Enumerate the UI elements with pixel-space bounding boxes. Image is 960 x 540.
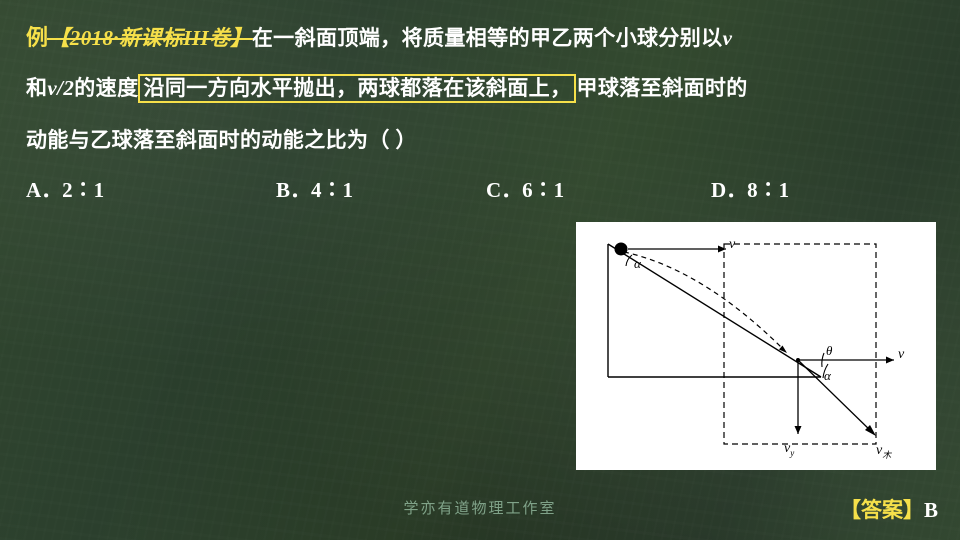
ball-marker	[615, 243, 628, 256]
answer-block: 【答案】B	[840, 494, 938, 524]
option-b[interactable]: B．4∶1	[276, 174, 486, 204]
answer-value: B	[924, 498, 938, 522]
question-line-2-suffix: 甲球落至斜面时的	[576, 76, 747, 100]
physics-diagram: α v v vy v木	[576, 222, 936, 470]
option-d[interactable]: D．8∶1	[711, 174, 789, 204]
slide-content: 例【2018·新课标III卷】在一斜面顶端，将质量相等的甲乙两个小球分别以v 和…	[0, 0, 960, 540]
option-c[interactable]: C．6∶1	[486, 174, 711, 204]
label-alpha-right: α	[824, 368, 832, 383]
label-v-right: v	[898, 347, 905, 362]
question-line-2-symbol: v/2	[47, 76, 74, 100]
label-theta: θ	[826, 343, 833, 358]
question-line-2-prefix: 和	[26, 76, 47, 100]
watermark: 学亦有道物理工作室	[0, 497, 960, 518]
question-line-1-text: 在一斜面顶端，将质量相等的甲乙两个小球分别以	[252, 26, 723, 50]
question-line-2-text: 的速度	[74, 76, 138, 100]
label-alpha-top: α	[634, 256, 642, 271]
question-line-1-symbol: v	[723, 26, 733, 50]
answer-label: 【答案】	[840, 498, 924, 522]
label-v-mu: v木	[876, 443, 892, 460]
question-line-2: 和v/2的速度沿同一方向水平抛出，两球都落在该斜面上，甲球落至斜面时的	[26, 72, 748, 103]
question-highlight-box: 沿同一方向水平抛出，两球都落在该斜面上，	[138, 74, 576, 103]
question-line-3: 动能与乙球落至斜面时的动能之比为（ ）	[26, 124, 417, 154]
options-row: A．2∶1B．4∶1C．6∶1D．8∶1	[26, 174, 906, 204]
question-line-1: 例【2018·新课标III卷】在一斜面顶端，将质量相等的甲乙两个小球分别以v	[26, 20, 732, 52]
option-a[interactable]: A．2∶1	[26, 174, 276, 204]
question-source: 【2018·新课标III卷】	[48, 22, 251, 52]
example-label: 例	[26, 25, 48, 50]
